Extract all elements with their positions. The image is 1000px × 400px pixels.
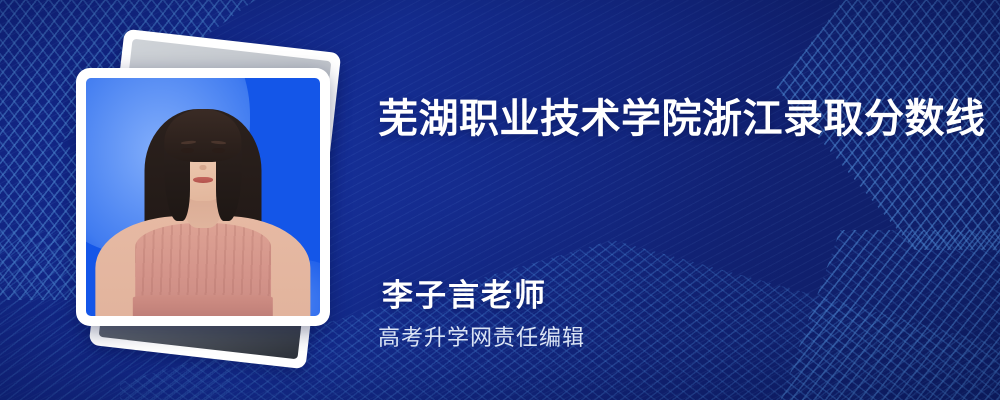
- author-name: 李子言老师: [382, 270, 547, 315]
- eye-left: [181, 148, 194, 153]
- portrait-photo-frame: [86, 78, 320, 316]
- dress-waistband: [133, 295, 273, 316]
- article-header-banner: 芜湖职业技术学院浙江录取分数线 李子言老师 高考升学网责任编辑: [0, 0, 1000, 400]
- page-title: 芜湖职业技术学院浙江录取分数线: [378, 96, 978, 143]
- portrait-photo-card: [76, 68, 330, 326]
- author-role: 高考升学网责任编辑: [378, 320, 585, 352]
- nose: [199, 165, 206, 170]
- portrait-figure: [86, 78, 320, 316]
- photo-card-stack: [40, 30, 340, 370]
- eye-right: [212, 148, 225, 153]
